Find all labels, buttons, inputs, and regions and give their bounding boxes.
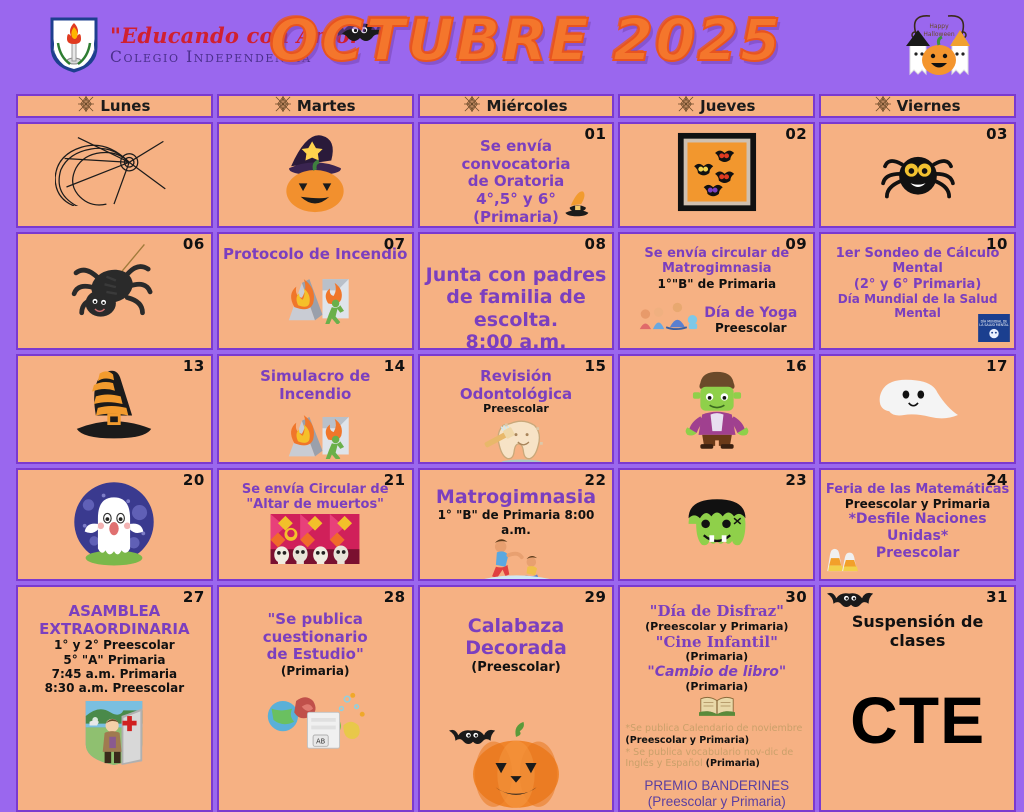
calendar-day-cell[interactable]: 17 <box>819 354 1016 464</box>
event-line: Calabaza Decorada <box>424 615 609 660</box>
spiderweb-icon <box>275 96 291 116</box>
day-number: 29 <box>585 588 607 606</box>
day-number: 24 <box>986 471 1008 489</box>
tooth-brushing-icon <box>478 418 554 464</box>
event-line: de familia de escolta. <box>424 286 609 331</box>
day-number: 20 <box>183 471 205 489</box>
day-number: 17 <box>986 357 1008 375</box>
event-line: Feria de las Matemáticas <box>825 482 1010 497</box>
hanging-spider-icon <box>57 244 171 336</box>
weekday-label: Jueves <box>700 97 755 115</box>
event-line: Se envía Circular de <box>223 482 408 497</box>
weekday-header-viernes: Viernes <box>819 94 1016 118</box>
event-line: Suspensión de clases <box>825 613 1010 651</box>
gymnastics-kids-icon <box>472 539 560 581</box>
candy-corn-icon <box>825 547 863 577</box>
spiderweb-icon <box>678 96 694 116</box>
day-number: 21 <box>384 471 406 489</box>
event-line: 8:30 a.m. Preescolar <box>22 681 207 695</box>
calendar-day-cell[interactable]: 15 Revisión Odontológica Preescolar <box>418 354 615 464</box>
calendar-day-cell[interactable]: 09 Se envía circular de Matrogimnasia 1°… <box>618 232 815 350</box>
event-line: Revisión Odontológica <box>424 368 609 403</box>
white-ghost-icon <box>866 376 970 428</box>
scout-boy-badge-icon <box>82 699 146 767</box>
school-supplies-icon: AB <box>257 684 373 752</box>
note-emphasis: (Preescolar y Primaria) <box>625 735 749 746</box>
event-line: Simulacro de Incendio <box>223 368 408 403</box>
day-number: 30 <box>785 588 807 606</box>
spiderweb-icon <box>55 130 173 206</box>
event-line: Se envía circular de <box>624 246 809 261</box>
calendar-day-cell[interactable]: 29 Calabaza Decorada (Preescolar) <box>418 585 615 812</box>
day-number: 31 <box>986 588 1008 606</box>
frankenstein-boy-icon <box>680 366 754 450</box>
event-line: EXTRAORDINARIA <box>22 621 207 639</box>
day-number: 14 <box>384 357 406 375</box>
witch-hat-pumpkin-icon <box>262 128 368 214</box>
calendar-week-row: 06 <box>16 232 1016 350</box>
spiderweb-icon <box>875 96 891 116</box>
award-title: PREMIO BANDERINES <box>625 778 808 794</box>
striped-witch-hat-icon <box>61 364 167 446</box>
calendar-week-row: 13 14 Simulacr <box>16 354 1016 464</box>
event-line: (2° y 6° Primaria) <box>825 277 1010 292</box>
event-line: (Preescolar y Primaria) <box>625 621 808 634</box>
calendar-day-cell[interactable]: 27 ASAMBLEA EXTRAORDINARIA 1° y 2° Prees… <box>16 585 213 812</box>
event-line: "Se publica cuestionario <box>223 611 408 646</box>
day-number: 27 <box>183 588 205 606</box>
weekday-label: Miércoles <box>486 97 567 115</box>
day-of-the-dead-altar-icon <box>269 514 361 564</box>
note-emphasis: (Primaria) <box>706 758 760 769</box>
calendar-day-cell[interactable] <box>16 122 213 228</box>
event-line: Matrogimnasia <box>424 486 609 508</box>
event-line: 1° y 2° Preescolar <box>22 638 207 652</box>
calendar-week-row: 01 Se envía convocatoria de Oratoria 4°,… <box>16 122 1016 228</box>
day-number: 06 <box>183 235 205 253</box>
weekday-header-lunes: Lunes <box>16 94 213 118</box>
day-number: 08 <box>585 235 607 253</box>
day-number: 22 <box>585 471 607 489</box>
frankenstein-face-icon <box>671 486 763 558</box>
event-line: (Primaria) <box>625 651 808 664</box>
event-line: Matrogimnasia <box>624 261 809 276</box>
day-number: 02 <box>785 125 807 143</box>
calendar-day-cell[interactable]: 14 Simulacro de Incendio <box>217 354 414 464</box>
calendar-day-cell[interactable]: 07 Protocolo de Incendio <box>217 232 414 350</box>
day-number: 28 <box>384 588 406 606</box>
calendar-day-cell[interactable]: 01 Se envía convocatoria de Oratoria 4°,… <box>418 122 615 228</box>
fire-drill-icon <box>269 266 361 324</box>
school-branding: "Educando con Amor" Colegio Independenci… <box>48 17 372 73</box>
event-line: "Cambio de libro" <box>625 664 808 681</box>
framed-bats-picture-icon <box>677 132 757 212</box>
day-number: 09 <box>785 235 807 253</box>
event-line: 7:45 a.m. Primaria <box>22 667 207 681</box>
yoga-kids-icon <box>636 299 700 335</box>
event-line: Mental <box>825 261 1010 276</box>
weekday-header-jueves: Jueves <box>618 94 815 118</box>
fire-drill-icon <box>270 405 360 459</box>
publication-note: * Se publica vocabulario nov-dic de Ingl… <box>625 747 808 771</box>
spiderweb-icon <box>464 96 480 116</box>
day-number: 15 <box>585 357 607 375</box>
calendar-day-cell[interactable]: 23 <box>618 468 815 581</box>
weekday-header-martes: Martes <box>217 94 414 118</box>
calendar-day-cell[interactable]: 13 <box>16 354 213 464</box>
event-line: Preescolar <box>424 403 609 416</box>
calendar-day-cell[interactable]: 16 <box>618 354 815 464</box>
calendar-day-cell[interactable]: 31 Suspensión de clases CTE <box>819 585 1016 812</box>
calendar-day-cell[interactable]: 02 <box>618 122 815 228</box>
event-line: *Desfile Naciones Unidas* <box>825 511 1010 544</box>
event-line: de Estudio" <box>223 646 408 664</box>
event-line: "Cine Infantil" <box>625 634 808 652</box>
cte-label: CTE <box>850 687 985 753</box>
publication-note: *Se publica Calendario de noviembre (Pre… <box>625 723 808 747</box>
event-line: 8:00 a.m. <box>424 331 609 350</box>
event-line: 1° "B" de Primaria 8:00 a.m. <box>424 508 609 536</box>
event-line: "Día de Disfraz" <box>625 603 808 621</box>
note-text: *Se publica Calendario de noviembre <box>625 723 802 734</box>
pumpkin-icon <box>460 716 572 810</box>
calendar-week-row: 27 ASAMBLEA EXTRAORDINARIA 1° y 2° Prees… <box>16 585 1016 812</box>
calendar-day-cell[interactable] <box>217 122 414 228</box>
spiderweb-icon <box>78 96 94 116</box>
day-number: 23 <box>785 471 807 489</box>
award-subtitle: (Preescolar y Primaria) <box>625 794 808 810</box>
calendar-day-cell[interactable]: 30 "Día de Disfraz" (Preescolar y Primar… <box>618 585 815 812</box>
calendar-day-cell[interactable]: 20 <box>16 468 213 581</box>
calendar-day-cell[interactable]: 06 <box>16 232 213 350</box>
calendar-week-row: 20 <box>16 468 1016 581</box>
event-line: 5° "A" Primaria <box>22 653 207 667</box>
event-line: (Primaria) <box>223 664 408 678</box>
black-spider-icon <box>875 138 961 204</box>
page-header: "Educando con Amor" Colegio Independenci… <box>0 0 1024 90</box>
calendar-day-cell[interactable]: 08 Junta con padres de familia de escolt… <box>418 232 615 350</box>
svg-text:AB: AB <box>316 738 326 746</box>
event-line: "Altar de muertos" <box>223 497 408 512</box>
calendar-weeks: 01 Se envía convocatoria de Oratoria 4°,… <box>16 122 1016 812</box>
event-line: Preescolar y Primaria <box>825 497 1010 511</box>
day-number: 10 <box>986 235 1008 253</box>
weekday-label: Viernes <box>897 97 961 115</box>
event-line: ASAMBLEA <box>22 603 207 621</box>
event-line: (Preescolar) <box>424 660 609 675</box>
event-line: (Primaria) <box>625 681 808 694</box>
calendar-day-cell[interactable]: 21 Se envía Circular de "Altar de muerto… <box>217 468 414 581</box>
day-number: 16 <box>785 357 807 375</box>
day-number: 07 <box>384 235 406 253</box>
happy-halloween-ghosts-icon: Happy Halloween <box>896 8 982 88</box>
event-line: Día de Yoga <box>704 305 797 321</box>
mental-health-day-poster-icon: DÍA MUNDIAL DE LA SALUD MENTAL <box>978 314 1010 346</box>
calendar-day-cell[interactable]: 28 "Se publica cuestionario de Estudio" … <box>217 585 414 812</box>
weekday-header-row: Lunes Martes Miércoles Jueves Viernes <box>16 94 1016 118</box>
event-line: 1°"B" de Primaria <box>624 277 809 291</box>
svg-text:Happy: Happy <box>929 23 949 30</box>
bat-icon <box>330 18 390 52</box>
day-number: 03 <box>986 125 1008 143</box>
event-line: Junta con padres <box>424 264 609 286</box>
bat-icon <box>825 589 877 617</box>
calendar-day-cell[interactable]: 24 Feria de las Matemáticas Preescolar y… <box>819 468 1016 581</box>
calendar-day-cell[interactable]: 22 Matrogimnasia 1° "B" de Primaria 8:00… <box>418 468 615 581</box>
day-number: 13 <box>183 357 205 375</box>
weekday-header-miercoles: Miércoles <box>418 94 615 118</box>
calendar-day-cell[interactable]: 10 1er Sondeo de Cálculo Mental (2° y 6°… <box>819 232 1016 350</box>
svg-text:LA SALUD MENTAL: LA SALUD MENTAL <box>979 323 1008 327</box>
calendar-day-cell[interactable]: 03 <box>819 122 1016 228</box>
weekday-label: Martes <box>297 97 356 115</box>
weekday-label: Lunes <box>100 97 150 115</box>
calendar-grid: Lunes Martes Miércoles Jueves Viernes <box>16 94 1016 782</box>
school-crest-icon <box>48 17 100 73</box>
witch-hat-icon <box>558 188 594 222</box>
event-line: Preescolar <box>704 321 797 335</box>
event-line: Se envía convocatoria <box>424 138 609 173</box>
event-line: 1er Sondeo de Cálculo <box>825 246 1010 261</box>
open-book-icon <box>699 695 735 721</box>
event-line: Protocolo de Incendio <box>223 246 408 264</box>
day-number: 01 <box>585 125 607 143</box>
cute-ghost-night-icon <box>62 476 166 568</box>
